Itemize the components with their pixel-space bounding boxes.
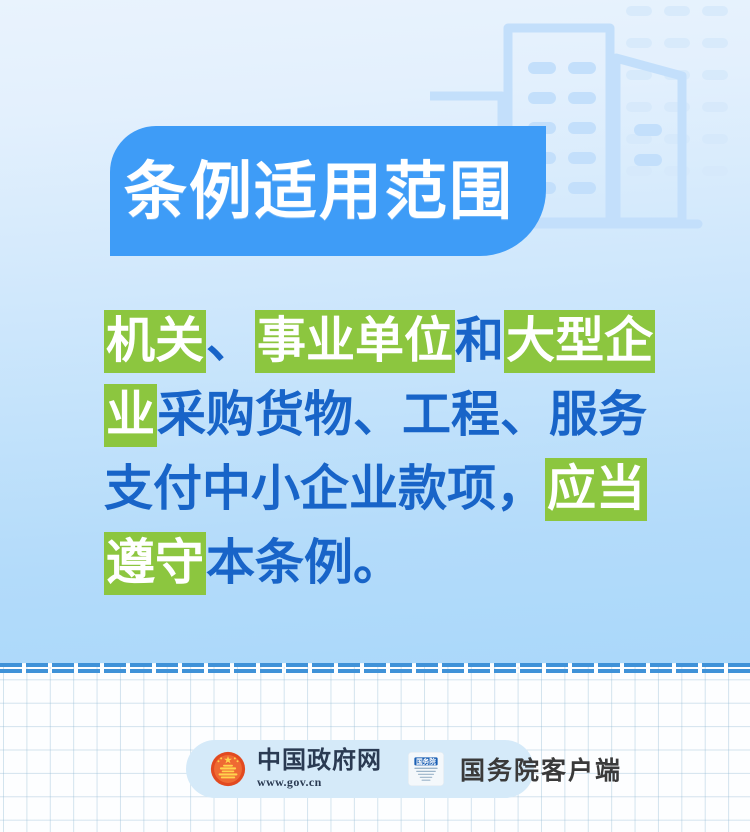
page-title: 条例适用范围: [124, 160, 514, 223]
divider-line-bottom: [0, 669, 750, 673]
plain-phrase: 、: [206, 312, 255, 369]
gov-site-block: 中国政府网 www.gov.cn: [257, 748, 382, 790]
body-line-1: 机关、事业单位和大型企: [104, 304, 684, 378]
guowuyuan-app-icon: 国务院: [408, 752, 444, 786]
plain-phrase: 支付中小企业款项，: [104, 460, 545, 517]
body-line-2: 业采购货物、工程、服务: [104, 378, 684, 452]
footer: 中国政府网 www.gov.cn 国务院 国务院客户端: [0, 736, 750, 802]
highlight-phrase: 应当: [545, 458, 647, 521]
plain-phrase: 采购货物、工程、服务: [157, 386, 647, 443]
gov-site-url: www.gov.cn: [257, 775, 382, 790]
highlight-phrase: 业: [104, 384, 157, 447]
highlight-phrase: 事业单位: [255, 310, 455, 373]
highlight-phrase: 遵守: [104, 532, 206, 595]
highlight-phrase: 机关: [104, 310, 206, 373]
dashed-divider: [0, 663, 750, 673]
title-banner: 条例适用范围: [110, 126, 546, 256]
plain-phrase: 和: [455, 312, 504, 369]
divider-line-top: [0, 663, 750, 667]
body-paragraph: 机关、事业单位和大型企 业采购货物、工程、服务 支付中小企业款项，应当 遵守本条…: [104, 304, 684, 600]
svg-text:国务院: 国务院: [416, 757, 436, 766]
body-line-4: 遵守本条例。: [104, 526, 684, 600]
body-line-3: 支付中小企业款项，应当: [104, 452, 684, 526]
national-emblem-icon: [210, 751, 246, 787]
gov-site-name: 中国政府网: [257, 748, 382, 773]
footer-content: 中国政府网 www.gov.cn 国务院 国务院客户端: [186, 740, 606, 798]
poster-canvas: 条例适用范围 机关、事业单位和大型企 业采购货物、工程、服务 支付中小企业款项，…: [0, 0, 750, 832]
app-name-label: 国务院客户端: [460, 751, 622, 787]
highlight-phrase: 大型企: [504, 310, 655, 373]
plain-phrase: 本条例。: [206, 534, 402, 591]
